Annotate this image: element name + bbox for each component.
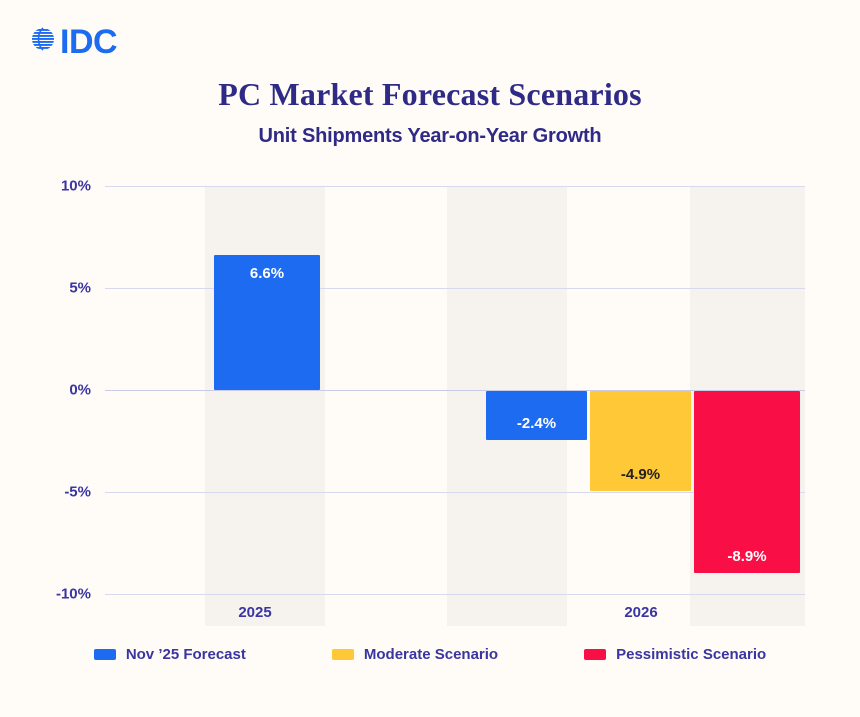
idc-wordmark: IDC	[60, 25, 117, 59]
bar-2026-nov25-forecast[interactable]: -2.4%	[486, 391, 587, 440]
xtick-label-2025: 2025	[238, 604, 271, 621]
ytick-label-10: 10%	[61, 178, 91, 195]
chart-plot-area: 10% 5% 0% -5% -10% 6.6% -2.4% -4.9% -8.9…	[105, 186, 805, 594]
legend-item-pessimistic-scenario[interactable]: Pessimistic Scenario	[584, 646, 766, 663]
bar-2026-moderate-scenario[interactable]: -4.9%	[590, 391, 691, 491]
page-subtitle: Unit Shipments Year-on-Year Growth	[0, 125, 860, 148]
gridline-neg10: -10%	[105, 594, 805, 595]
page-title: PC Market Forecast Scenarios	[0, 76, 860, 113]
legend-item-moderate-scenario[interactable]: Moderate Scenario	[332, 646, 498, 663]
globe-icon	[28, 24, 58, 59]
bar-value-label: -4.9%	[590, 466, 691, 483]
ytick-label-5: 5%	[69, 280, 91, 297]
bar-2025-nov25-forecast[interactable]: 6.6%	[214, 255, 320, 390]
legend-swatch-icon	[332, 649, 354, 660]
legend-swatch-icon	[94, 649, 116, 660]
ytick-label-neg5: -5%	[64, 484, 91, 501]
gridline-10: 10%	[105, 186, 805, 187]
legend-label: Moderate Scenario	[364, 646, 498, 663]
bar-value-label: -2.4%	[486, 415, 587, 432]
category-band-2025	[205, 186, 325, 626]
gridline-5: 5%	[105, 288, 805, 289]
legend-label: Pessimistic Scenario	[616, 646, 766, 663]
xtick-label-2026: 2026	[624, 604, 657, 621]
idc-logo: IDC	[28, 24, 117, 59]
bar-value-label: 6.6%	[214, 265, 320, 282]
legend-swatch-icon	[584, 649, 606, 660]
ytick-label-0: 0%	[69, 382, 91, 399]
ytick-label-neg10: -10%	[56, 586, 91, 603]
legend-item-nov25-forecast[interactable]: Nov ’25 Forecast	[94, 646, 246, 663]
legend-label: Nov ’25 Forecast	[126, 646, 246, 663]
chart-legend: Nov ’25 Forecast Moderate Scenario Pessi…	[0, 646, 860, 663]
bar-value-label: -8.9%	[694, 548, 800, 565]
bar-2026-pessimistic-scenario[interactable]: -8.9%	[694, 391, 800, 573]
